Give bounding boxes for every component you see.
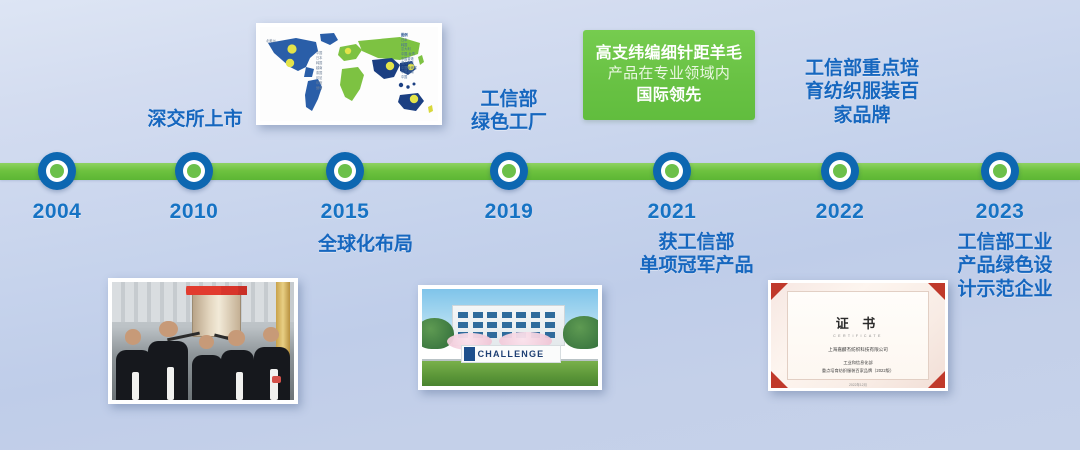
node-ring: [183, 160, 205, 182]
year-label-2023: 2023: [940, 200, 1060, 224]
world-map-image: 北美洲 中国 日本 韩国 越南 泰国 印尼 印度 缅甸 图例 日本 韩国 意大利…: [256, 23, 442, 125]
lawn: [422, 361, 598, 386]
bell-ceremony-image: [108, 278, 298, 404]
caption-2019: 工信部 绿色工厂: [449, 88, 569, 135]
highlight-line-3: 国际领先: [636, 85, 701, 107]
node-core: [502, 164, 516, 178]
corner-ornament: [771, 371, 788, 388]
node-core: [993, 164, 1007, 178]
certificate-scene: 证 书 CERTIFICATE 上海嘉麟杰纺织科技有限公司 工业和信息化部 重点…: [771, 283, 945, 388]
certificate-body: 证 书 CERTIFICATE 上海嘉麟杰纺织科技有限公司 工业和信息化部 重点…: [787, 291, 930, 379]
highlight-line-1: 高支纬编细针距羊毛: [596, 43, 743, 64]
certificate-issuer: 工业和信息化部: [843, 360, 872, 366]
timeline-node-2021[interactable]: [653, 152, 691, 190]
certificate-date: 2022年12月: [849, 382, 867, 387]
timeline-node-2019[interactable]: [490, 152, 528, 190]
attendee-shirt: [236, 372, 243, 400]
world-map-canvas: 北美洲 中国 日本 韩国 越南 泰国 印尼 印度 缅甸 图例 日本 韩国 意大利…: [260, 27, 438, 121]
timeline-node-2010[interactable]: [175, 152, 213, 190]
node-core: [187, 164, 201, 178]
challenge-building-image: CHALLENGE: [418, 285, 602, 390]
caption-2022: 工信部重点培 育纺织服装百 家品牌: [772, 57, 952, 127]
caption-2021: 获工信部 单项冠军产品: [604, 231, 789, 278]
node-core: [338, 164, 352, 178]
highlight-card: 高支纬编细针距羊毛 产品在专业领域内 国际领先: [583, 30, 755, 120]
building-scene: CHALLENGE: [422, 289, 598, 386]
logo-mark: [464, 347, 475, 360]
caption-2023: 工信部工业 产品绿色设 计示范企业: [930, 231, 1080, 301]
attendee-head: [125, 329, 141, 344]
map-mid-label-6: 印度: [316, 81, 322, 86]
node-core: [50, 164, 64, 178]
red-ribbon: [185, 286, 247, 295]
certificate-subtitle: CERTIFICATE: [833, 334, 883, 338]
timeline-node-2004[interactable]: [38, 152, 76, 190]
node-core: [833, 164, 847, 178]
node-core: [665, 164, 679, 178]
attendee-head: [228, 330, 244, 345]
attendee-shirt: [132, 372, 139, 400]
attendee-shirt: [167, 367, 174, 400]
certificate-image: 证 书 CERTIFICATE 上海嘉麟杰纺织科技有限公司 工业和信息化部 重点…: [768, 280, 948, 391]
certificate-award: 重点培育纺织服装百家品牌（2022版）: [822, 368, 894, 374]
map-legend-row-8: 中国: [401, 75, 435, 80]
challenge-sign: CHALLENGE: [461, 345, 562, 363]
certificate-company: 上海嘉麟杰纺织科技有限公司: [828, 347, 888, 353]
node-ring: [46, 160, 68, 182]
corner-ornament: [928, 283, 945, 300]
map-mid-labels: 中国 日本 韩国 越南 泰国 印尼 印度 缅甸: [316, 51, 322, 91]
map-mid-label-5: 印尼: [316, 76, 322, 81]
timeline-infographic: 2004 2010 2015 2019 2021 2022 2023 深交所上市…: [0, 0, 1080, 450]
year-label-2015: 2015: [285, 200, 405, 224]
timeline-node-2015[interactable]: [326, 152, 364, 190]
year-label-2021: 2021: [612, 200, 732, 224]
node-ring: [989, 160, 1011, 182]
node-ring: [498, 160, 520, 182]
map-mid-label-7: 缅甸: [316, 86, 322, 91]
map-legend-title: 图例: [401, 32, 435, 37]
map-label-na: 北美洲: [266, 39, 276, 44]
corner-ornament: [771, 283, 788, 300]
timeline-node-2022[interactable]: [821, 152, 859, 190]
challenge-sign-text: CHALLENGE: [478, 349, 545, 359]
node-ring: [334, 160, 356, 182]
map-legend: 图例 日本 韩国 意大利 中国-台湾 中国香港 澳大利亚 中国柬埔寨 中国越南 …: [401, 32, 435, 80]
attendee: [192, 355, 223, 400]
year-label-2004: 2004: [0, 200, 117, 224]
timeline-rail: [0, 163, 1080, 180]
certificate-title: 证 书: [836, 313, 881, 332]
year-label-2022: 2022: [780, 200, 900, 224]
caption-2010: 深交所上市: [124, 108, 266, 131]
node-ring: [661, 160, 683, 182]
map-left-labels: 北美洲: [266, 39, 276, 44]
year-label-2010: 2010: [134, 200, 254, 224]
node-ring: [829, 160, 851, 182]
bell-scene: [112, 282, 294, 400]
timeline-node-2023[interactable]: [981, 152, 1019, 190]
caption-2015: 全球化布局: [278, 233, 453, 256]
boutonniere: [272, 376, 281, 383]
year-label-2019: 2019: [449, 200, 569, 224]
corner-ornament: [928, 371, 945, 388]
attendee-shirt: [270, 369, 277, 400]
attendee-head: [159, 321, 177, 338]
tree: [563, 316, 598, 349]
highlight-line-2: 产品在专业领域内: [608, 64, 730, 84]
